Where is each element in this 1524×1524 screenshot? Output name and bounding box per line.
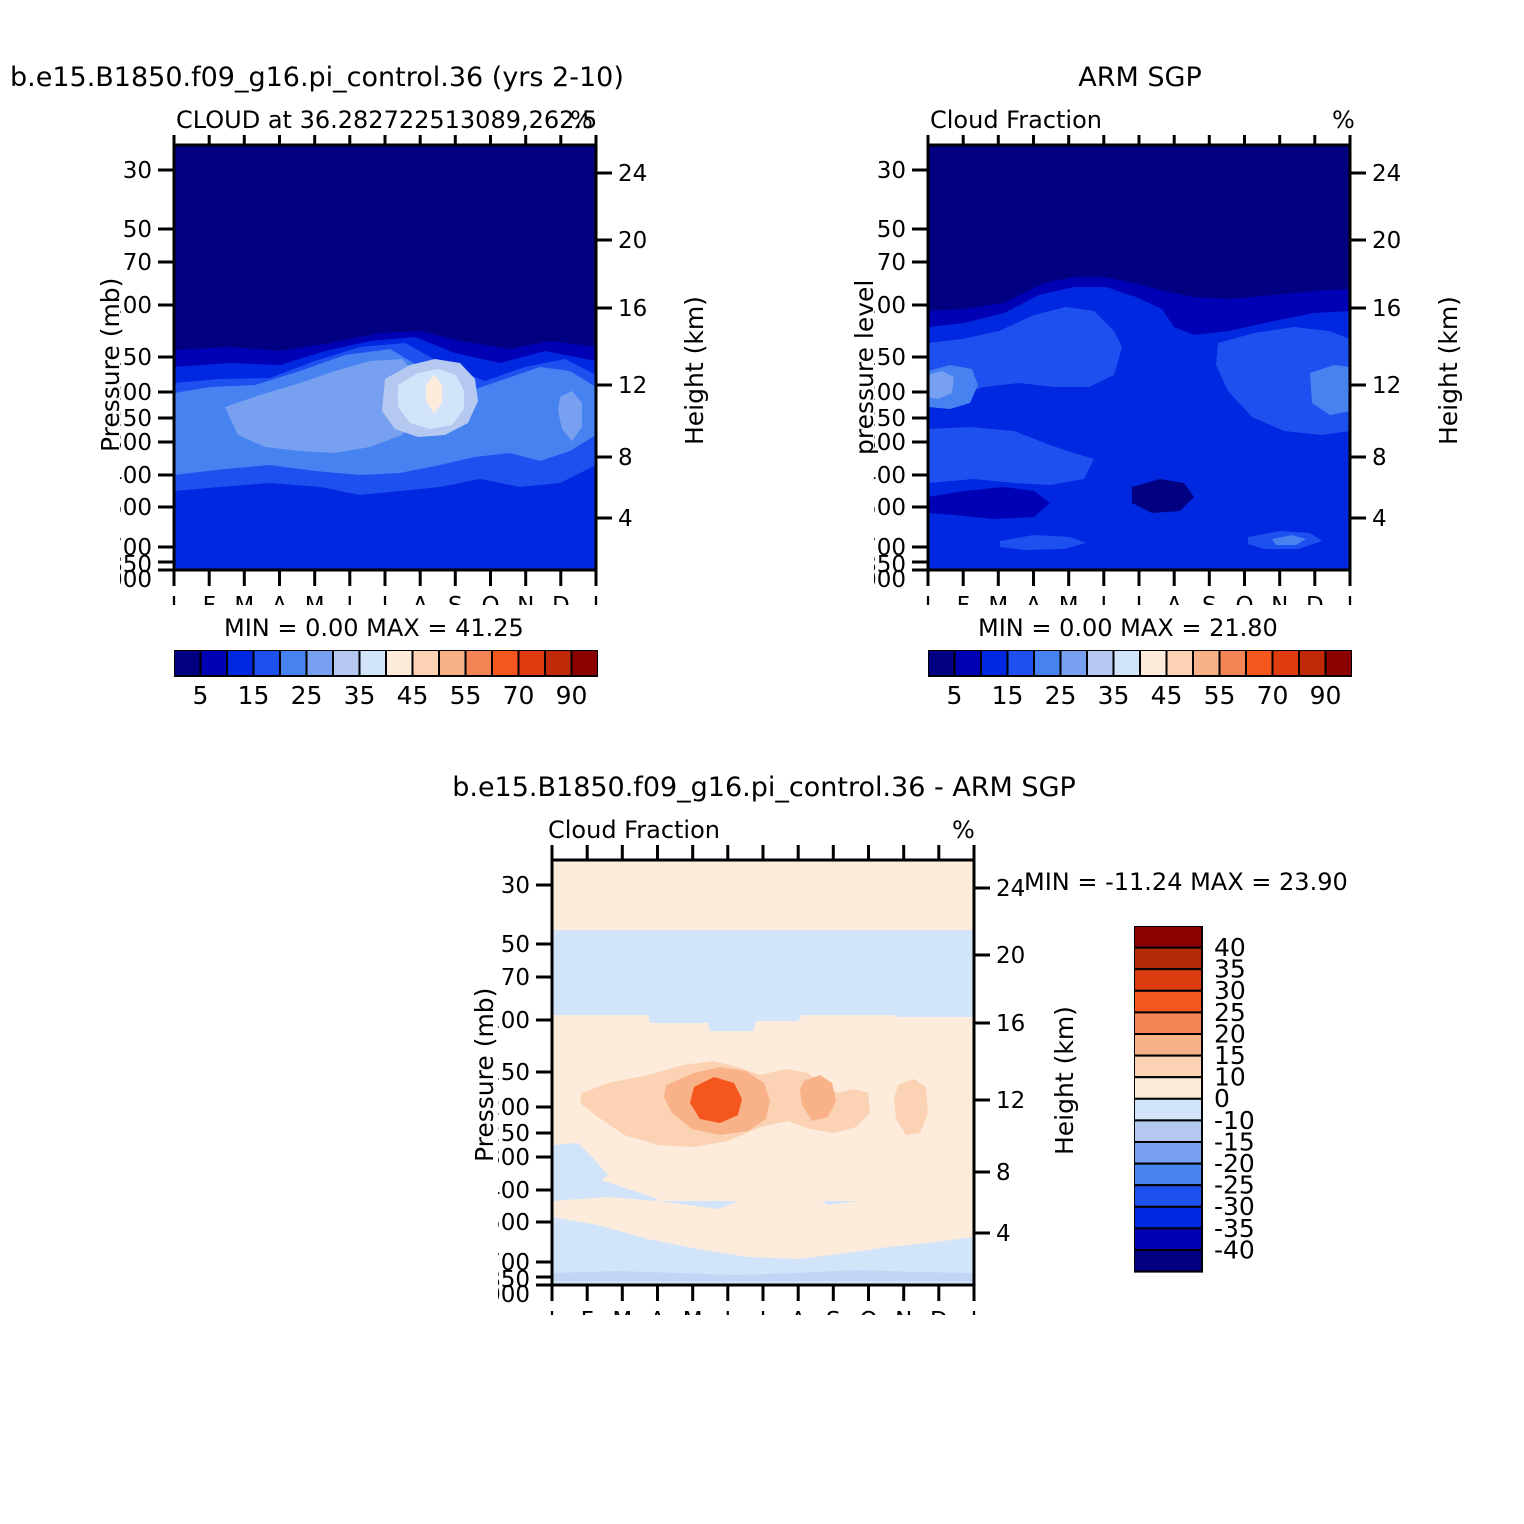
ptick: 250 (120, 406, 152, 432)
ptick: 30 (123, 158, 152, 184)
ptick: 250 (498, 1121, 530, 1147)
diff-colorbar-labels: 40 35 30 25 20 15 10 0 -10 -15 -20 -25 -… (1214, 933, 1255, 1264)
diff-pressure-tick-labels: 30 50 70 100 150 200 250 300 400 500 700… (498, 873, 530, 1308)
ptick: 30 (877, 158, 906, 184)
month-label: J (380, 593, 389, 605)
diff-contour-plot: 30 50 70 100 150 200 250 300 400 500 700… (498, 845, 1098, 1315)
month-label: S (826, 1308, 841, 1315)
model-minmax-text: MIN = 0.00 MAX = 41.25 (224, 614, 524, 642)
ptick: 50 (501, 932, 530, 958)
diff-minmax-text: MIN = -11.24 MAX = 23.90 (1024, 868, 1348, 896)
model-panel-subtitle-right: % (570, 106, 593, 134)
htick: 20 (1372, 228, 1401, 254)
obs-panel-subtitle-left: Cloud Fraction (930, 106, 1102, 134)
month-label: M (234, 593, 254, 605)
month-label: F (581, 1308, 594, 1315)
month-label: J (758, 1308, 767, 1315)
model-month-labels: J F M A M J J A S O N D J (169, 593, 600, 605)
month-label: A (412, 593, 428, 605)
month-label: J (169, 593, 178, 605)
ptick: 100 (874, 293, 906, 319)
month-label: J (1098, 593, 1107, 605)
htick: 24 (996, 876, 1025, 902)
cb-label: 90 (556, 681, 588, 710)
model-colorbar: 5 15 25 35 45 55 70 90 (174, 650, 598, 712)
cb-label: 55 (450, 681, 482, 710)
htick: 16 (618, 296, 647, 322)
diff-colorbar-swatches (1134, 926, 1202, 1272)
model-panel-title: b.e15.B1850.f09_g16.pi_control.36 (yrs 2… (10, 62, 624, 93)
ptick: 500 (498, 1210, 530, 1236)
ptick: 1000 (498, 1282, 530, 1308)
ptick: 70 (877, 250, 906, 276)
month-label: J (923, 593, 932, 605)
htick: 8 (618, 445, 633, 471)
month-label: N (1271, 593, 1288, 605)
ptick: 500 (120, 495, 152, 521)
htick: 24 (1372, 161, 1401, 187)
htick: 24 (618, 161, 647, 187)
cb-label: 35 (1098, 681, 1130, 710)
month-label: M (683, 1308, 703, 1315)
cb-label: 45 (1151, 681, 1183, 710)
ptick: 70 (501, 965, 530, 991)
model-colorbar-labels: 5 15 25 35 45 55 70 90 (193, 681, 588, 710)
month-label: O (1235, 593, 1253, 605)
model-colorbar-swatches (174, 650, 598, 676)
cb-label: 35 (344, 681, 376, 710)
htick: 20 (618, 228, 647, 254)
ptick: 300 (120, 430, 152, 456)
month-label: A (272, 593, 288, 605)
obs-height-tick-labels: 24 20 16 12 8 4 (1372, 161, 1401, 532)
obs-pressure-tick-labels: 30 50 70 100 150 200 250 300 400 500 700… (874, 158, 906, 593)
month-label: J (591, 593, 600, 605)
ptick: 100 (498, 1008, 530, 1034)
month-label: M (1059, 593, 1079, 605)
diff-left-ticks (536, 885, 552, 1285)
cb-label: 25 (1045, 681, 1077, 710)
model-panel-subtitle-left: CLOUD at 36.282722513089,262.5 (176, 106, 597, 134)
obs-minmax-text: MIN = 0.00 MAX = 21.80 (978, 614, 1278, 642)
obs-left-ticks (912, 170, 928, 570)
cb-label: 5 (193, 681, 209, 710)
month-label: M (305, 593, 325, 605)
diff-top-ticks (552, 845, 974, 860)
cb-label: 25 (291, 681, 323, 710)
htick: 12 (1372, 373, 1401, 399)
diff-panel-title: b.e15.B1850.f09_g16.pi_control.36 - ARM … (452, 772, 1076, 803)
ptick: 400 (498, 1178, 530, 1204)
ptick: 1000 (120, 567, 152, 593)
ptick: 200 (498, 1095, 530, 1121)
diff-contour-fills (552, 860, 974, 1285)
ptick: 200 (874, 380, 906, 406)
obs-month-labels: J F M A M J J A S O N D J (923, 593, 1354, 605)
diff-panel-ylabel-left: Pressure (mb) (470, 988, 499, 1162)
htick: 12 (996, 1088, 1025, 1114)
month-label: A (790, 1308, 806, 1315)
ptick: 30 (501, 873, 530, 899)
ptick: 300 (498, 1145, 530, 1171)
htick: 8 (1372, 445, 1387, 471)
cb-label: 15 (992, 681, 1024, 710)
month-label: S (448, 593, 463, 605)
month-label: A (1166, 593, 1182, 605)
ptick: 400 (874, 463, 906, 489)
ptick: 50 (877, 217, 906, 243)
htick: 4 (996, 1221, 1011, 1247)
model-right-ticks (596, 173, 612, 518)
ptick: 70 (123, 250, 152, 276)
cb-label: -40 (1214, 1235, 1255, 1264)
month-label: J (969, 1308, 978, 1315)
model-pressure-tick-labels: 30 50 70 100 150 200 250 300 400 500 700… (120, 158, 152, 593)
month-label: A (1026, 593, 1042, 605)
diff-panel-subtitle-left: Cloud Fraction (548, 816, 720, 844)
cb-label: 55 (1204, 681, 1236, 710)
ptick: 300 (874, 430, 906, 456)
diff-height-tick-labels: 24 20 16 12 8 4 (996, 876, 1025, 1247)
ptick: 100 (120, 293, 152, 319)
obs-panel-title: ARM SGP (1078, 62, 1201, 93)
htick: 8 (996, 1160, 1011, 1186)
htick: 20 (996, 943, 1025, 969)
ptick: 150 (120, 345, 152, 371)
month-label: A (650, 1308, 666, 1315)
diff-month-labels: J F M A M J J A S O N D J (547, 1308, 978, 1315)
ptick: 150 (874, 345, 906, 371)
month-label: O (859, 1308, 877, 1315)
month-label: F (203, 593, 216, 605)
htick: 4 (618, 506, 633, 532)
model-left-ticks (158, 170, 174, 570)
obs-colorbar-labels: 5 15 25 35 45 55 70 90 (947, 681, 1342, 710)
obs-panel-subtitle-right: % (1332, 106, 1355, 134)
month-label: D (930, 1308, 948, 1315)
cb-label: 5 (947, 681, 963, 710)
htick: 4 (1372, 506, 1387, 532)
ptick: 200 (120, 380, 152, 406)
htick: 16 (996, 1011, 1025, 1037)
month-label: J (1345, 593, 1354, 605)
obs-colorbar: 5 15 25 35 45 55 70 90 (928, 650, 1352, 712)
ptick: 400 (120, 463, 152, 489)
model-contour-plot: 30 50 70 100 150 200 250 300 400 500 700… (120, 135, 720, 605)
diff-panel-subtitle-right: % (952, 816, 975, 844)
diff-colorbar: 40 35 30 25 20 15 10 0 -10 -15 -20 -25 -… (1134, 926, 1384, 1286)
model-contour-fills (174, 145, 596, 570)
ptick: 250 (874, 406, 906, 432)
month-label: J (722, 1308, 731, 1315)
obs-colorbar-swatches (928, 650, 1352, 676)
month-label: F (957, 593, 970, 605)
ptick: 1000 (874, 567, 906, 593)
htick: 12 (618, 373, 647, 399)
month-label: M (988, 593, 1008, 605)
month-label: D (552, 593, 570, 605)
obs-bottom-ticks (928, 570, 1350, 586)
month-label: J (344, 593, 353, 605)
month-label: D (1306, 593, 1324, 605)
ptick: 500 (874, 495, 906, 521)
cb-label: 90 (1310, 681, 1342, 710)
htick: 16 (1372, 296, 1401, 322)
diff-bottom-ticks (552, 1285, 974, 1301)
model-height-tick-labels: 24 20 16 12 8 4 (618, 161, 647, 532)
obs-right-ticks (1350, 173, 1366, 518)
ptick: 150 (498, 1060, 530, 1086)
obs-contour-plot: 30 50 70 100 150 200 250 300 400 500 700… (874, 135, 1474, 605)
month-label: J (1134, 593, 1143, 605)
month-label: N (895, 1308, 912, 1315)
ptick: 50 (123, 217, 152, 243)
cb-label: 45 (397, 681, 429, 710)
cb-label: 70 (1257, 681, 1289, 710)
month-label: N (517, 593, 534, 605)
month-label: J (547, 1308, 556, 1315)
cb-label: 70 (503, 681, 535, 710)
model-bottom-ticks (174, 570, 596, 586)
cb-label: 15 (238, 681, 270, 710)
month-label: S (1202, 593, 1217, 605)
month-label: O (481, 593, 499, 605)
diff-right-ticks (974, 888, 990, 1233)
obs-contour-fills (928, 145, 1350, 570)
month-label: M (612, 1308, 632, 1315)
